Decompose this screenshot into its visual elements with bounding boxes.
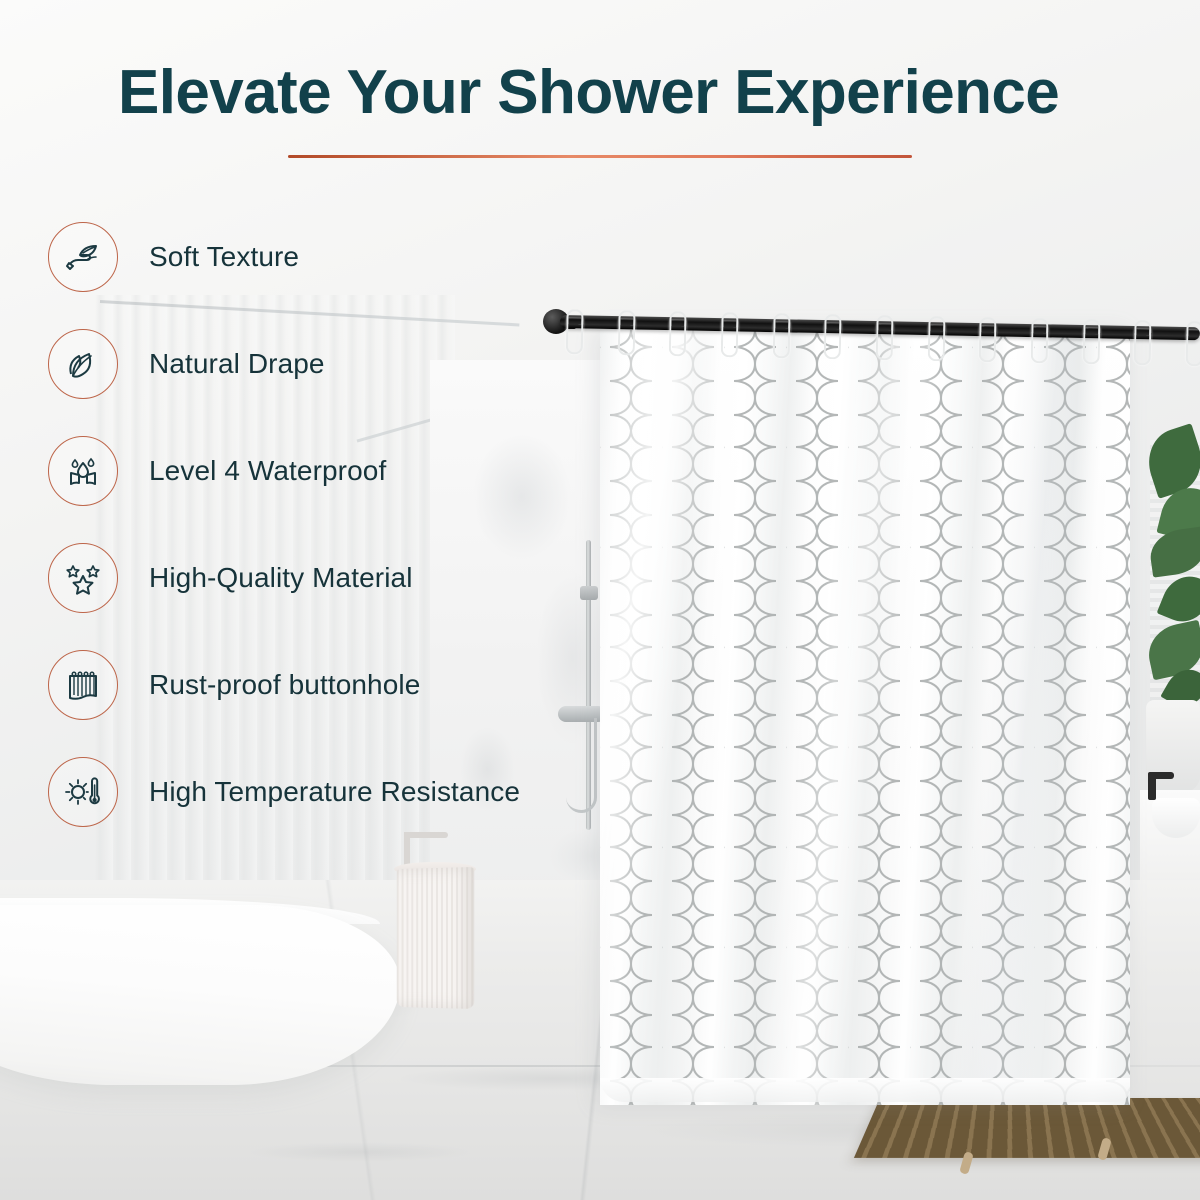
leaves-icon (48, 329, 118, 399)
feature-label: High-Quality Material (149, 562, 413, 594)
curtain-ring (721, 321, 739, 357)
curtain-ring (979, 326, 997, 362)
curtain-ring (1082, 328, 1100, 364)
curtain-ring (824, 323, 842, 359)
water-droplets-fabric-icon (48, 436, 118, 506)
title-divider (288, 155, 912, 158)
curtain-hem (600, 1078, 1130, 1102)
curtain-ring (876, 324, 894, 360)
slatted-basket (397, 867, 475, 1009)
shower-curtain (600, 330, 1130, 1105)
curtain-ring (1134, 329, 1152, 365)
feature-label: Rust-proof buttonhole (149, 669, 420, 701)
feature-item: High Temperature Resistance (48, 757, 668, 827)
feature-label: Natural Drape (149, 348, 325, 380)
three-stars-icon (48, 543, 118, 613)
feature-list: Soft Texture Natural Drape Level 4 Water… (48, 222, 668, 864)
sun-thermometer-icon (48, 757, 118, 827)
curtain-ring (1186, 330, 1200, 366)
feature-item: Soft Texture (48, 222, 668, 292)
curtain-ring (927, 325, 945, 361)
curtain-ring (669, 320, 687, 356)
curtain-gloss (600, 330, 1130, 1105)
feature-item: Rust-proof buttonhole (48, 650, 668, 720)
hand-feather-icon (48, 222, 118, 292)
curtain-ring (772, 322, 790, 358)
feature-item: Natural Drape (48, 329, 668, 399)
feature-item: Level 4 Waterproof (48, 436, 668, 506)
feature-item: High-Quality Material (48, 543, 668, 613)
feature-label: High Temperature Resistance (149, 776, 520, 808)
feature-label: Level 4 Waterproof (149, 455, 386, 487)
faucet-black-spout (1148, 772, 1174, 779)
promo-graphic: Elevate Your Shower Experience Soft Text… (0, 0, 1200, 1200)
bathtub (0, 905, 400, 1085)
curtain-ring (1031, 327, 1049, 363)
page-title: Elevate Your Shower Experience (118, 62, 1098, 124)
feature-label: Soft Texture (149, 241, 299, 273)
curtain-grommets-icon (48, 650, 118, 720)
